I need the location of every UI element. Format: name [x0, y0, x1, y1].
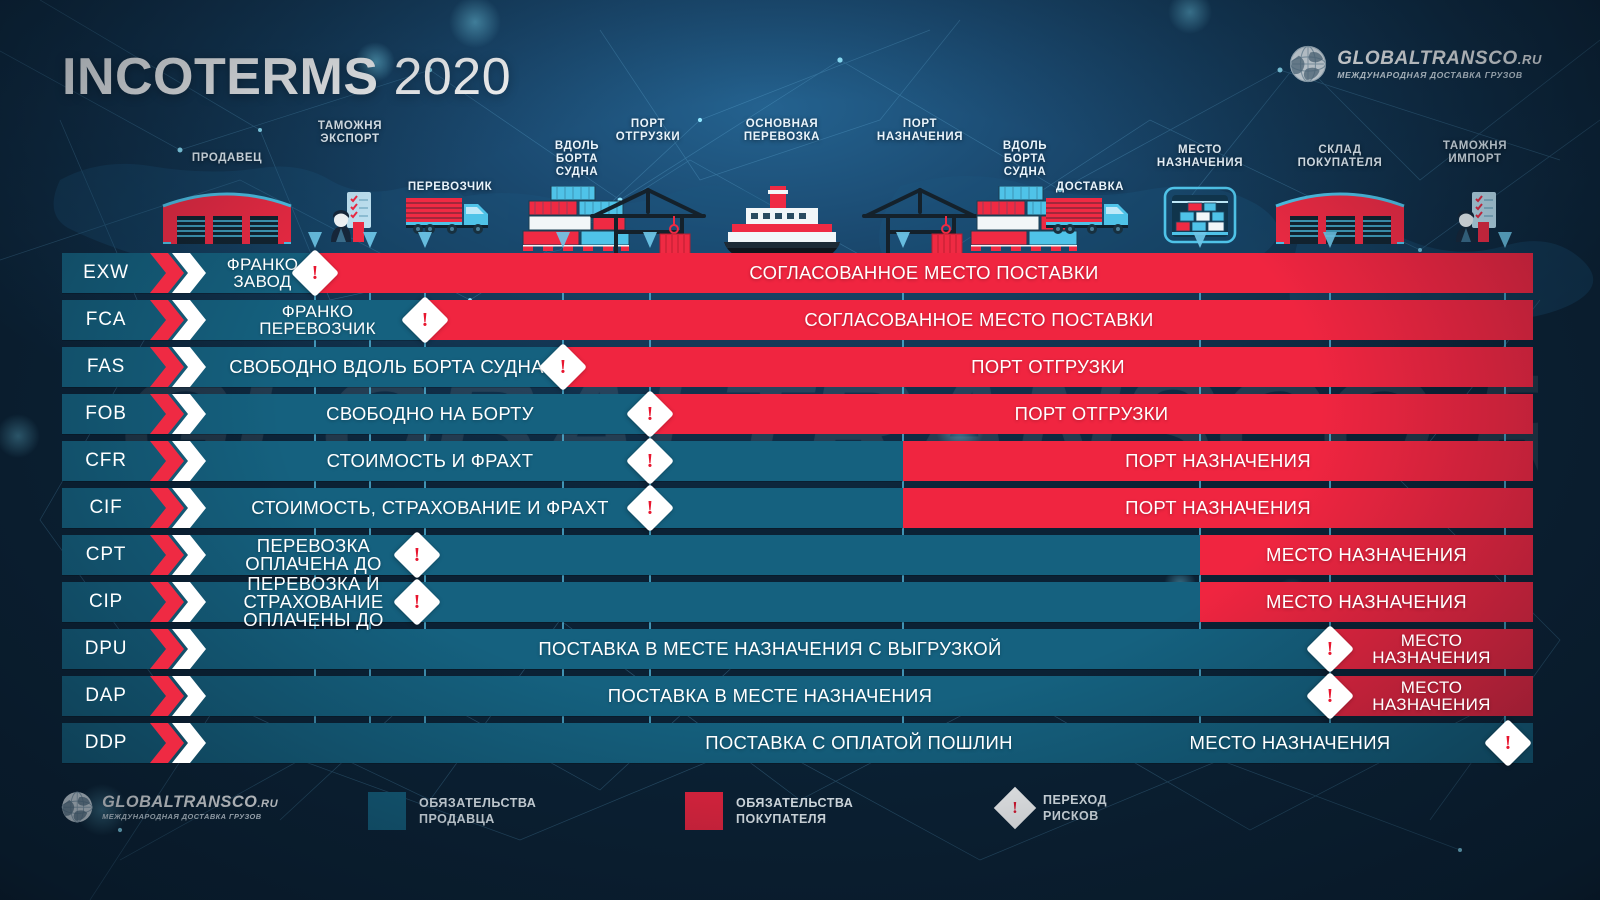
- legend-item-risk-transfer: !ПЕРЕХОД РИСКОВ: [1000, 792, 1107, 824]
- table-row[interactable]: CIPПЕРЕВОЗКА И СТРАХОВАНИЕ ОПЛАЧЕНЫ ДОМЕ…: [62, 582, 1533, 622]
- table-row[interactable]: DAPПОСТАВКА В МЕСТЕ НАЗНАЧЕНИЯМЕСТО НАЗН…: [62, 676, 1533, 716]
- risk-transfer-marker-icon: !: [393, 531, 441, 579]
- table-row[interactable]: CIFСТОИМОСТЬ, СТРАХОВАНИЕ И ФРАХТПОРТ НА…: [62, 488, 1533, 528]
- term-name: СВОБОДНО НА БОРТУ: [210, 394, 650, 434]
- named-place: ПОРТ ОТГРУЗКИ: [650, 394, 1533, 434]
- table-row[interactable]: CFRСТОИМОСТЬ И ФРАХТПОРТ НАЗНАЧЕНИЯ!: [62, 441, 1533, 481]
- chevron-arrow-icon: [172, 676, 206, 716]
- table-row[interactable]: FOBСВОБОДНО НА БОРТУПОРТ ОТГРУЗКИ!: [62, 394, 1533, 434]
- legend-item-seller-obligations: ОБЯЗАТЕЛЬСТВА ПРОДАВЦА: [368, 792, 536, 830]
- term-code: CPT: [62, 535, 150, 575]
- incoterms-matrix: EXWФРАНКО ЗАВОДСОГЛАСОВАННОЕ МЕСТО ПОСТА…: [0, 0, 1600, 900]
- term-name: СТОИМОСТЬ И ФРАХТ: [210, 441, 650, 481]
- risk-transfer-marker-icon: !: [626, 437, 674, 485]
- chevron-arrow-icon: [172, 394, 206, 434]
- chevron-arrow-icon: [172, 488, 206, 528]
- chevron-arrow-icon: [172, 253, 206, 293]
- term-name: СТОИМОСТЬ, СТРАХОВАНИЕ И ФРАХТ: [210, 488, 650, 528]
- chevron-arrow-icon: [172, 629, 206, 669]
- named-place: МЕСТО НАЗНАЧЕНИЯ: [1200, 535, 1533, 575]
- chevron-arrow-icon: [172, 347, 206, 387]
- risk-transfer-marker-icon: !: [291, 249, 339, 297]
- named-place: ПОРТ ОТГРУЗКИ: [563, 347, 1533, 387]
- risk-transfer-marker-icon: !: [401, 296, 449, 344]
- brand-name: GLOBALTRANSCO.RU: [102, 794, 278, 810]
- chevron-arrow-icon: [172, 535, 206, 575]
- chevron-arrow-icon: [172, 441, 206, 481]
- risk-transfer-marker-icon: !: [1306, 625, 1354, 673]
- chevron-arrow-icon: [172, 723, 206, 763]
- term-code: FCA: [62, 300, 150, 340]
- risk-transfer-marker-icon: !: [1306, 672, 1354, 720]
- term-code: DDP: [62, 723, 150, 763]
- globe-icon: [60, 790, 94, 824]
- risk-transfer-marker-icon: !: [539, 343, 587, 391]
- table-row[interactable]: DPUПОСТАВКА В МЕСТЕ НАЗНАЧЕНИЯ С ВЫГРУЗК…: [62, 629, 1533, 669]
- term-code: DAP: [62, 676, 150, 716]
- term-name: ПЕРЕВОЗКА ОПЛАЧЕНА ДО: [210, 535, 417, 575]
- risk-transfer-marker-icon: !: [1484, 719, 1532, 767]
- brand-subtitle: МЕЖДУНАРОДНАЯ ДОСТАВКА ГРУЗОВ: [102, 813, 278, 820]
- named-place: ПОРТ НАЗНАЧЕНИЯ: [903, 488, 1533, 528]
- named-place: МЕСТО НАЗНАЧЕНИЯ: [1330, 629, 1533, 669]
- term-code: EXW: [62, 253, 150, 293]
- named-place: МЕСТО НАЗНАЧЕНИЯ: [1100, 723, 1480, 763]
- legend-swatch-red: [685, 792, 723, 830]
- legend-swatch-teal: [368, 792, 406, 830]
- term-code: CIF: [62, 488, 150, 528]
- brand-logo-bottom: GLOBALTRANSCO.RU МЕЖДУНАРОДНАЯ ДОСТАВКА …: [60, 790, 278, 824]
- named-place: СОГЛАСОВАННОЕ МЕСТО ПОСТАВКИ: [425, 300, 1533, 340]
- term-name: ПОСТАВКА В МЕСТЕ НАЗНАЧЕНИЯ: [210, 676, 1330, 716]
- term-name: ПОСТАВКА В МЕСТЕ НАЗНАЧЕНИЯ С ВЫГРУЗКОЙ: [210, 629, 1330, 669]
- table-row[interactable]: FCAФРАНКО ПЕРЕВОЗЧИКСОГЛАСОВАННОЕ МЕСТО …: [62, 300, 1533, 340]
- risk-transfer-marker-icon: !: [393, 578, 441, 626]
- legend-item-buyer-obligations: ОБЯЗАТЕЛЬСТВА ПОКУПАТЕЛЯ: [685, 792, 853, 830]
- term-code: CIP: [62, 582, 150, 622]
- legend-label: ПЕРЕХОД РИСКОВ: [1043, 792, 1107, 824]
- table-row[interactable]: EXWФРАНКО ЗАВОДСОГЛАСОВАННОЕ МЕСТО ПОСТА…: [62, 253, 1533, 293]
- term-code: CFR: [62, 441, 150, 481]
- named-place: МЕСТО НАЗНАЧЕНИЯ: [1330, 676, 1533, 716]
- term-name: ФРАНКО ПЕРЕВОЗЧИК: [210, 300, 425, 340]
- term-name: ПЕРЕВОЗКА И СТРАХОВАНИЕ ОПЛАЧЕНЫ ДО: [210, 582, 417, 622]
- chevron-arrow-icon: [172, 300, 206, 340]
- legend-label: ОБЯЗАТЕЛЬСТВА ПОКУПАТЕЛЯ: [736, 795, 853, 827]
- legend-label: ОБЯЗАТЕЛЬСТВА ПРОДАВЦА: [419, 795, 536, 827]
- named-place: СОГЛАСОВАННОЕ МЕСТО ПОСТАВКИ: [315, 253, 1533, 293]
- term-code: DPU: [62, 629, 150, 669]
- risk-transfer-marker-icon: !: [626, 390, 674, 438]
- table-row[interactable]: CPTПЕРЕВОЗКА ОПЛАЧЕНА ДОМЕСТО НАЗНАЧЕНИЯ…: [62, 535, 1533, 575]
- named-place: МЕСТО НАЗНАЧЕНИЯ: [1200, 582, 1533, 622]
- table-row[interactable]: DDPПОСТАВКА С ОПЛАТОЙ ПОШЛИНМЕСТО НАЗНАЧ…: [62, 723, 1533, 763]
- term-name: СВОБОДНО ВДОЛЬ БОРТА СУДНА: [210, 347, 563, 387]
- infographic-canvas: GLOBALTRANSCO.RU INCOTERMS 2020 GLOBALTR…: [0, 0, 1600, 900]
- term-code: FOB: [62, 394, 150, 434]
- chevron-arrow-icon: [172, 582, 206, 622]
- table-row[interactable]: FASСВОБОДНО ВДОЛЬ БОРТА СУДНАПОРТ ОТГРУЗ…: [62, 347, 1533, 387]
- term-code: FAS: [62, 347, 150, 387]
- risk-transfer-marker-icon: !: [626, 484, 674, 532]
- named-place: ПОРТ НАЗНАЧЕНИЯ: [903, 441, 1533, 481]
- risk-transfer-marker-icon: !: [994, 787, 1036, 829]
